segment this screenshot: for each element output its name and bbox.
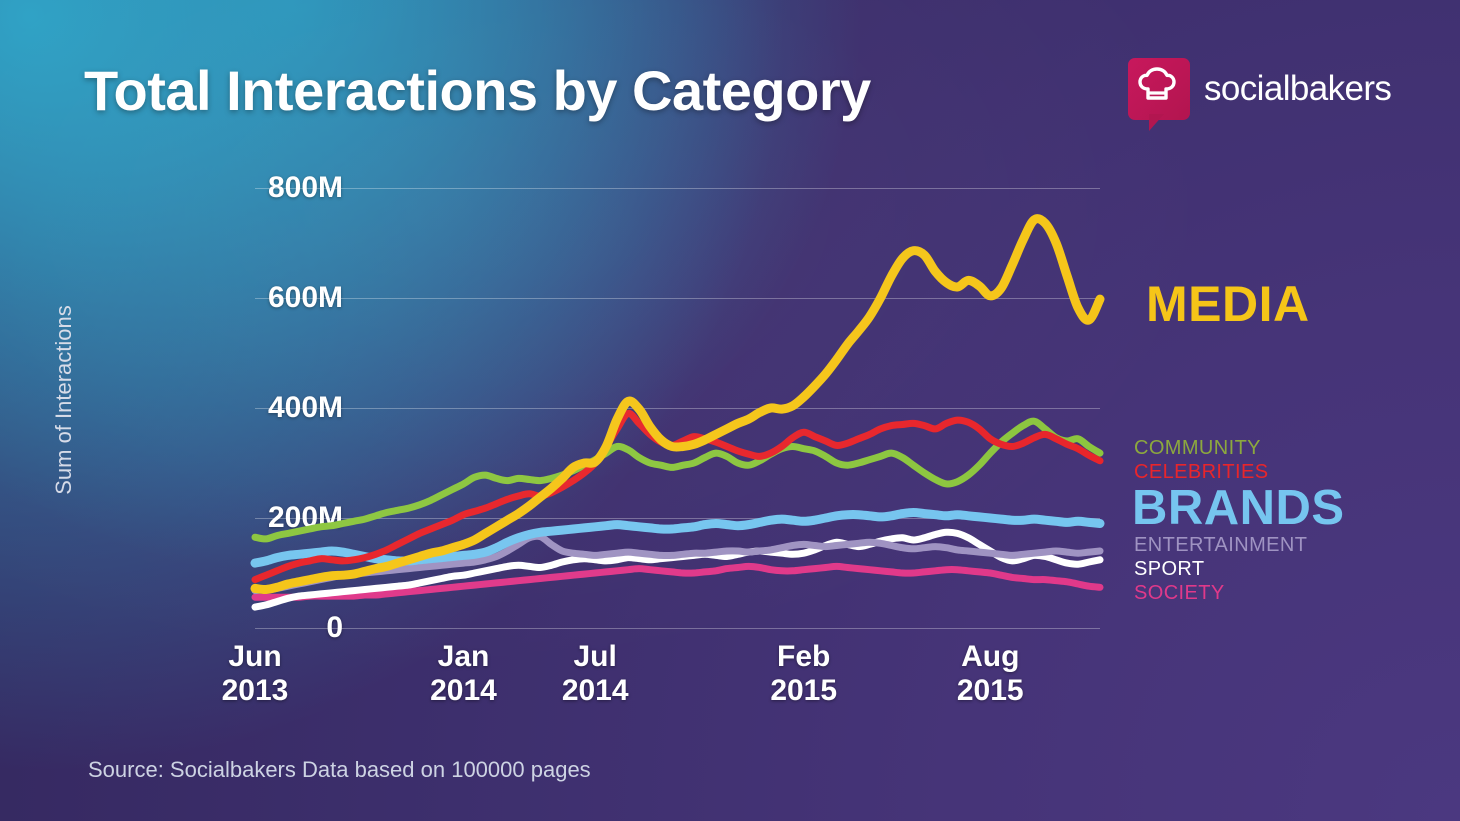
y-axis-title: Sum of Interactions [51,305,77,495]
page-title: Total Interactions by Category [84,58,871,123]
x-tick-label: Jun2013 [175,640,335,707]
source-note: Source: Socialbakers Data based on 10000… [88,757,591,783]
series-line-media [255,219,1100,590]
gridline [255,628,1100,629]
chart-series-lines [255,188,1100,628]
x-tick-label: Jul2014 [515,640,675,707]
legend-item-sport[interactable]: SPORT [1134,559,1345,579]
legend-item-society[interactable]: SOCIETY [1134,583,1345,603]
chart-plot-area [255,188,1100,628]
socialbakers-logo: socialbakers [1128,58,1391,120]
legend-item-entertainment[interactable]: ENTERTAINMENT [1134,535,1345,555]
slide-canvas: Total Interactions by Category socialbak… [0,0,1460,821]
x-tick-label: Aug2015 [910,640,1070,707]
chef-hat-speech-bubble-icon [1128,58,1190,120]
legend-item-celebrities[interactable]: CELEBRITIES [1134,462,1345,482]
legend-item-community[interactable]: COMMUNITY [1134,438,1345,458]
series-line-community [255,421,1100,539]
x-tick-label: Feb2015 [724,640,884,707]
logo-wordmark: socialbakers [1204,69,1391,109]
legend-group: COMMUNITY CELEBRITIES BRANDS ENTERTAINME… [1134,438,1345,603]
legend-item-media[interactable]: MEDIA [1146,275,1310,333]
legend-item-brands[interactable]: BRANDS [1132,484,1345,533]
